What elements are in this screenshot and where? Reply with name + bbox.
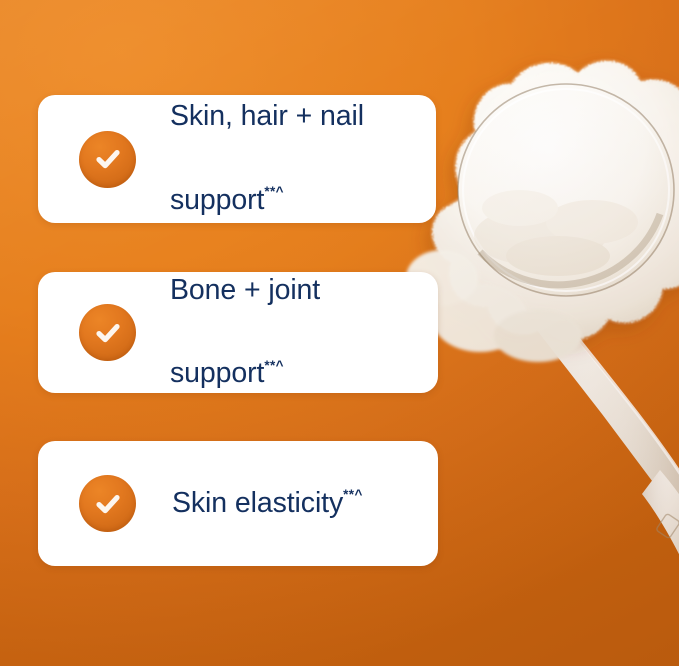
footnote-marker: **^: [264, 358, 284, 373]
benefit-text-2: Bone + joint support**^: [170, 228, 320, 437]
product-benefits-image: Skin, hair + nail support**^ Bone + join…: [0, 0, 679, 666]
footnote-marker: **^: [343, 487, 363, 502]
benefit-line-1: Bone + joint: [170, 270, 320, 312]
benefit-card-1: Skin, hair + nail support**^: [38, 95, 436, 223]
benefit-line-2: support**^: [170, 180, 364, 222]
benefit-text-3: Skin elasticity**^: [172, 441, 363, 567]
benefit-card-2: Bone + joint support**^: [38, 272, 438, 393]
benefit-line-1: Skin elasticity**^: [172, 483, 363, 525]
check-circle-icon: [79, 304, 136, 361]
benefit-card-3: Skin elasticity**^: [38, 441, 438, 566]
footnote-marker: **^: [264, 184, 284, 199]
benefit-line-2: support**^: [170, 353, 320, 395]
check-circle-icon: [79, 475, 136, 532]
benefit-line-1: Skin, hair + nail: [170, 96, 364, 138]
check-circle-icon: [79, 131, 136, 188]
